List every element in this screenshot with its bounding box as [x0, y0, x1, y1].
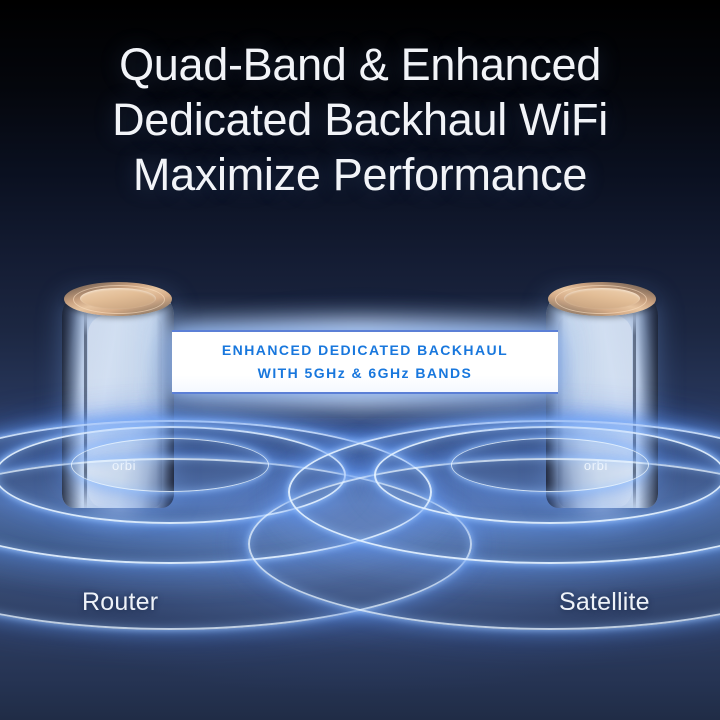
- satellite-top-cap: [548, 282, 656, 316]
- page-title: Quad-Band & Enhanced Dedicated Backhaul …: [0, 38, 720, 203]
- banner-line-1: ENHANCED DEDICATED BACKHAUL: [222, 339, 508, 362]
- router-device: orbi: [62, 282, 174, 512]
- router-front-panel: [88, 316, 162, 508]
- satellite-base-reflection: [550, 504, 654, 538]
- satellite-seam-line: [633, 312, 636, 508]
- router-top-cap: [64, 282, 172, 316]
- orbi-logo: orbi: [584, 458, 608, 473]
- router-base-reflection: [66, 504, 170, 538]
- router-label: Router: [82, 588, 158, 617]
- satellite-front-panel: [558, 316, 632, 508]
- signal-ring-soft-inner: [0, 424, 359, 542]
- router-body: [62, 294, 174, 508]
- promo-banner-image: Quad-Band & Enhanced Dedicated Backhaul …: [0, 0, 720, 720]
- satellite-label: Satellite: [559, 588, 650, 617]
- backhaul-banner: ENHANCED DEDICATED BACKHAUL WITH 5GHz & …: [172, 330, 558, 394]
- orbi-logo: orbi: [112, 458, 136, 473]
- satellite-top-inner-disc: [564, 288, 640, 309]
- signal-ring-soft-inner: [361, 424, 720, 542]
- router-seam-line: [84, 312, 87, 508]
- banner-line-2: WITH 5GHz & 6GHz BANDS: [258, 362, 473, 385]
- router-left-edge-shade: [62, 304, 82, 508]
- satellite-device: orbi: [546, 282, 658, 512]
- satellite-body: [546, 294, 658, 508]
- satellite-left-edge-shade: [638, 304, 658, 508]
- router-top-inner-disc: [80, 288, 156, 309]
